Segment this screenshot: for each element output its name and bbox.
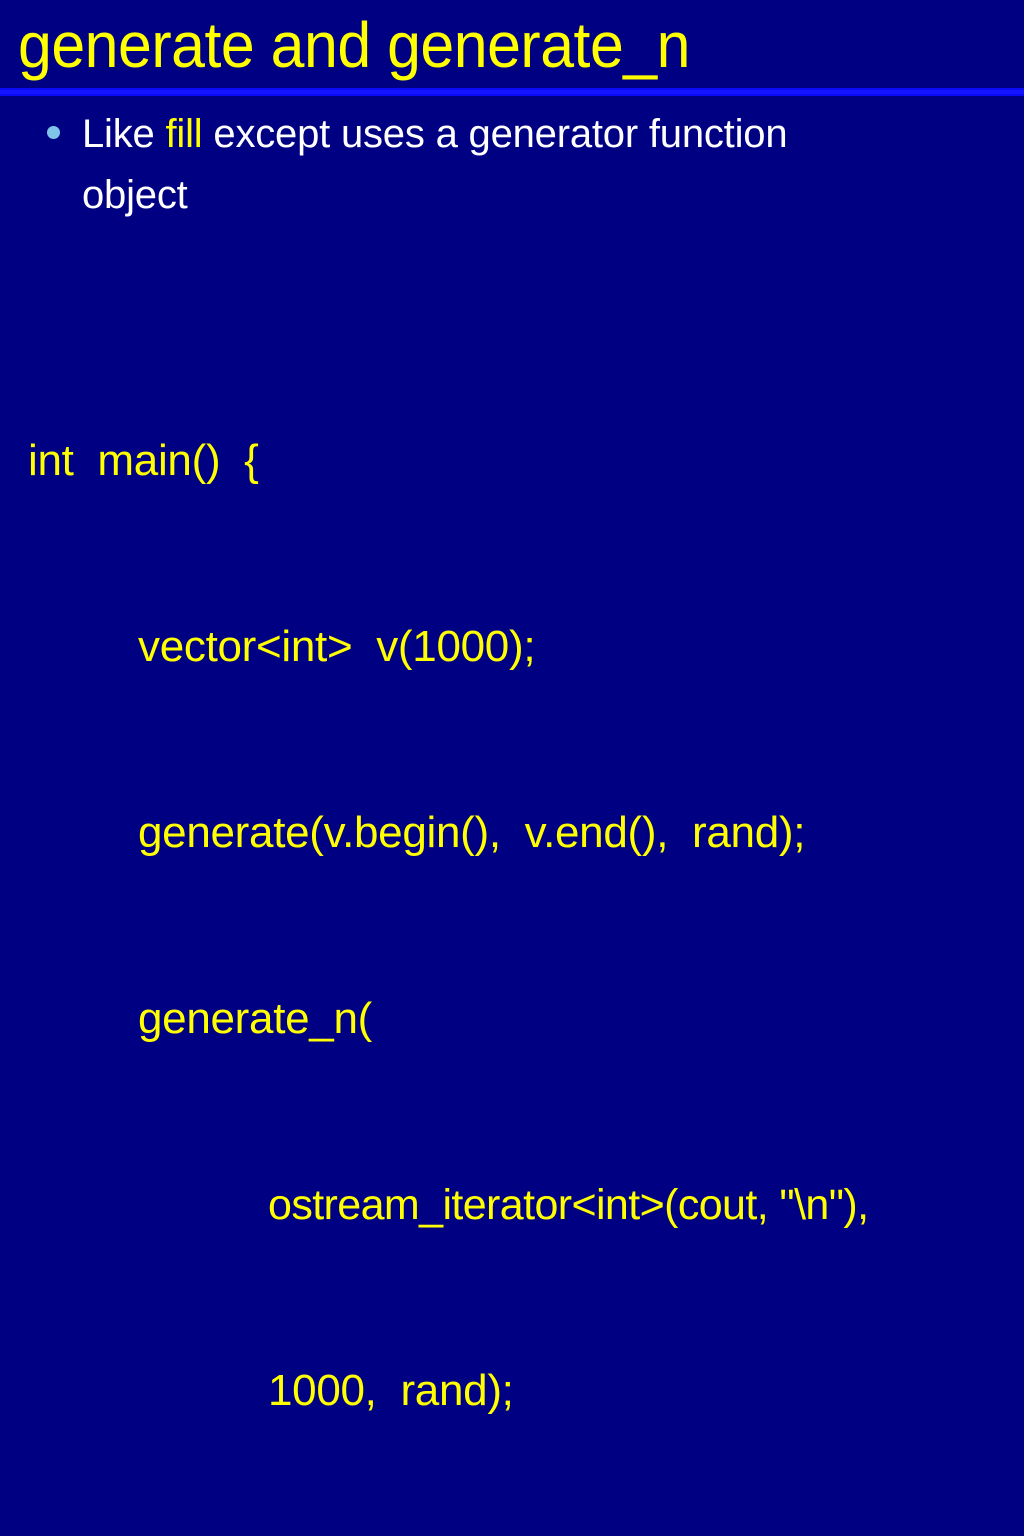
bullet-text-prefix: Like	[82, 112, 166, 156]
title-divider	[0, 88, 1024, 96]
code-line: int main() {	[0, 430, 1024, 492]
code-line: vector<int> v(1000);	[0, 616, 1024, 678]
bullet-text-highlight: fill	[166, 112, 203, 156]
code-line: generate(v.begin(), v.end(), rand);	[0, 802, 1024, 864]
page-title: generate and generate_n	[18, 6, 690, 84]
code-line: 1000, rand);	[0, 1360, 1024, 1422]
code-line: generate_n(	[0, 988, 1024, 1050]
list-item: Like fill except uses a generator functi…	[0, 104, 1024, 226]
title-divider-highlight	[0, 90, 1024, 94]
bullet-list: Like fill except uses a generator functi…	[0, 104, 1024, 226]
code-line: ostream_iterator<int>(cout, "\n"),	[0, 1174, 1024, 1236]
slide-title-area: generate and generate_n	[0, 0, 1024, 90]
slide-canvas: generate and generate_n Like fill except…	[0, 0, 1024, 768]
code-sample: int main() { vector<int> v(1000); genera…	[0, 306, 1024, 1536]
bullet-dot-icon	[47, 126, 60, 139]
bullet-item-text: Like fill except uses a generator functi…	[82, 104, 882, 226]
